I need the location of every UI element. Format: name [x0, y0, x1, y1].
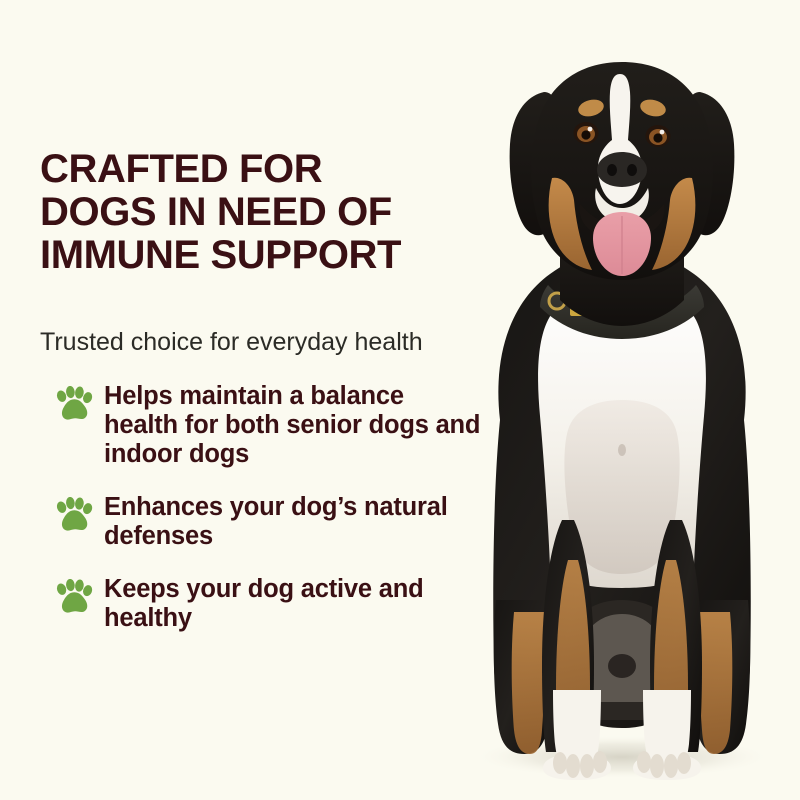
text-column: CRAFTED FOR DOGS IN NEED OF IMMUNE SUPPO…: [40, 0, 480, 800]
promo-poster: CRAFTED FOR DOGS IN NEED OF IMMUNE SUPPO…: [0, 0, 800, 800]
dog-photo: Tricolor sitting dog with tongue out wea…: [440, 0, 800, 800]
benefits-list: Helps maintain a balance health for both…: [52, 382, 482, 657]
page-title: CRAFTED FOR DOGS IN NEED OF IMMUNE SUPPO…: [40, 148, 480, 277]
paw-print-icon: [52, 493, 104, 533]
paw-print-icon: [52, 382, 104, 422]
paw-print-icon: [52, 575, 104, 615]
headline-line-2: DOGS IN NEED OF: [40, 191, 480, 234]
list-item: Helps maintain a balance health for both…: [52, 382, 482, 469]
list-item-label: Keeps your dog active and healthy: [104, 575, 482, 633]
list-item: Enhances your dog’s natural defenses: [52, 493, 482, 551]
list-item-label: Helps maintain a balance health for both…: [104, 382, 482, 469]
list-item-label: Enhances your dog’s natural defenses: [104, 493, 482, 551]
headline-line-1: CRAFTED FOR: [40, 148, 480, 191]
list-item: Keeps your dog active and healthy: [52, 575, 482, 633]
headline-line-3: IMMUNE SUPPORT: [40, 234, 480, 277]
dog-nose: [597, 152, 647, 187]
subtitle: Trusted choice for everyday health: [40, 327, 480, 357]
